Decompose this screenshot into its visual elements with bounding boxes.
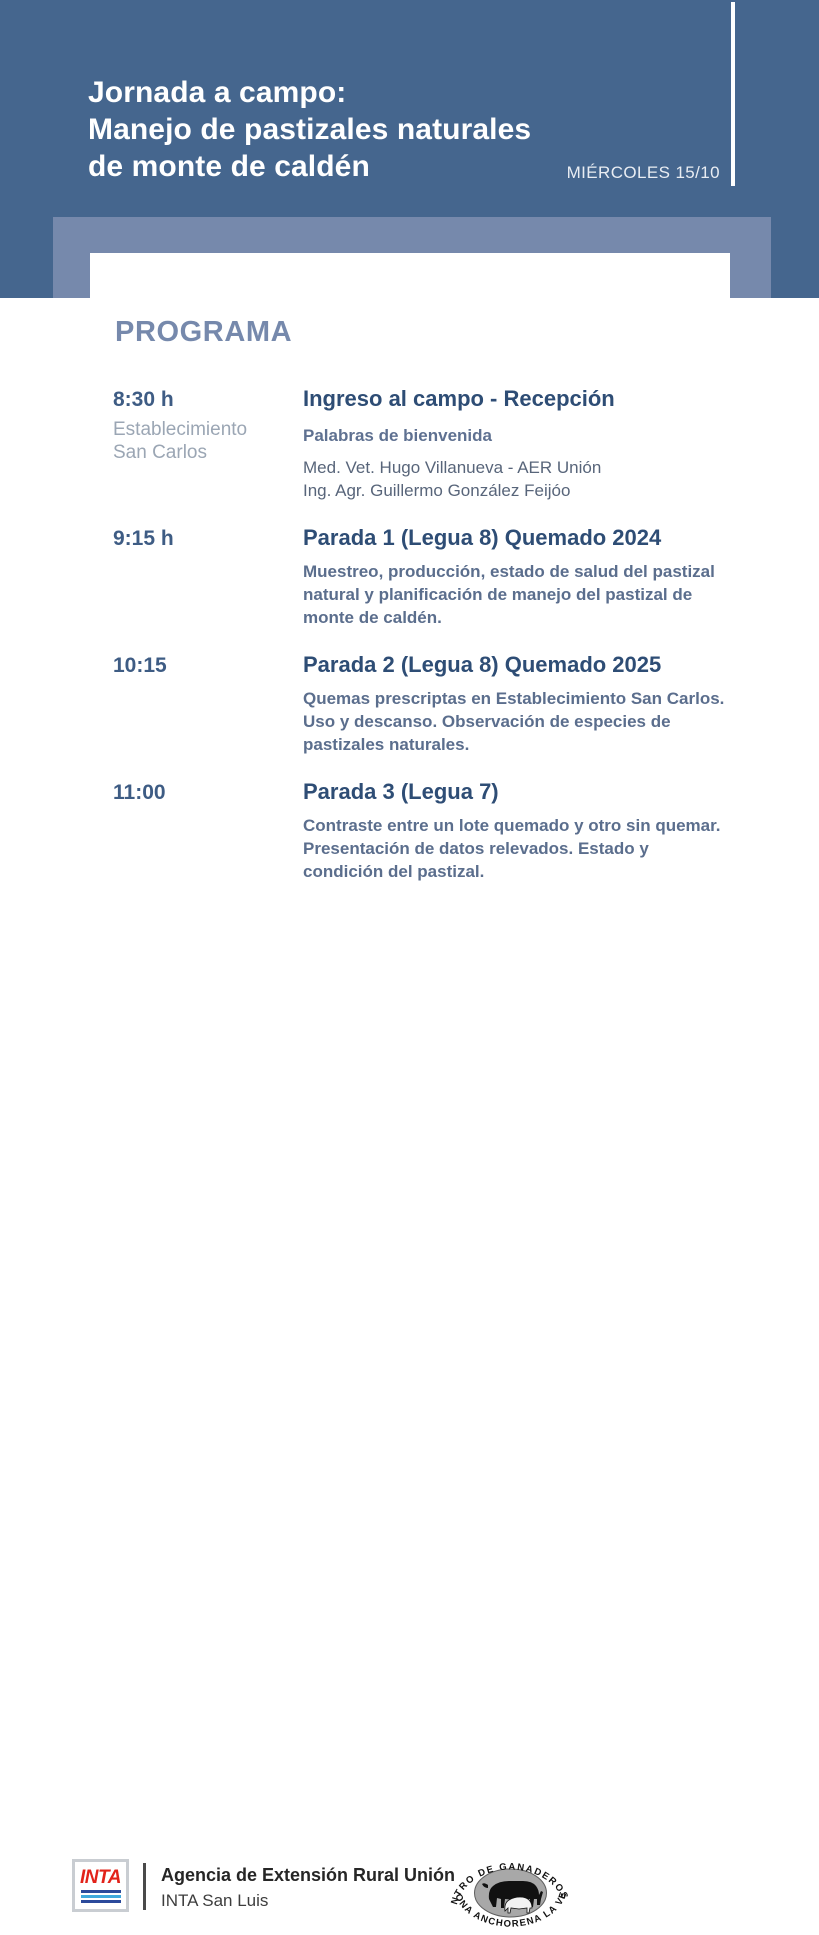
inta-logo-inner: INTA	[75, 1862, 126, 1909]
schedule-entry-heading: Parada 3 (Legua 7)	[303, 778, 773, 805]
schedule-entry-time-column: 10:15	[113, 651, 303, 679]
schedule-entry-time: 8:30 h	[113, 387, 303, 413]
schedule-entry-time-column: 9:15 h	[113, 524, 303, 552]
schedule-entry-time-column: 8:30 hEstablecimiento San Carlos	[113, 385, 303, 464]
schedule-entry-heading: Parada 2 (Legua 8) Quemado 2025	[303, 651, 773, 678]
schedule-entry: 8:30 hEstablecimiento San CarlosIngreso …	[113, 385, 773, 502]
inta-stripe-bottom-icon	[81, 1900, 121, 1903]
programa-heading: PROGRAMA	[115, 316, 292, 349]
title-line-1: Jornada a campo:	[88, 74, 688, 111]
schedule-entry: 11:00Parada 3 (Legua 7)Contraste entre u…	[113, 778, 773, 883]
schedule-entry-heading: Ingreso al campo - Recepción	[303, 385, 773, 412]
schedule-entry-time: 10:15	[113, 653, 303, 679]
centro-ganaderos-logo: CENTRO DE GANADEROS DE ARIZONA ANCHORENA…	[449, 1851, 572, 1935]
footer-agency-region: INTA San Luis	[161, 1889, 455, 1913]
schedule-entry: 10:15Parada 2 (Legua 8) Quemado 2025Quem…	[113, 651, 773, 756]
footer-agency-block: Agencia de Extensión Rural Unión INTA Sa…	[161, 1863, 455, 1913]
schedule-entry-content: Ingreso al campo - RecepciónPalabras de …	[303, 385, 773, 502]
inta-logo: INTA	[72, 1859, 129, 1912]
event-date-label: MIÉRCOLES 15/10	[567, 163, 720, 183]
header-vertical-rule	[731, 2, 735, 186]
schedule-entry-body: Contraste entre un lote quemado y otro s…	[303, 814, 773, 883]
schedule-entry-subheading: Palabras de bienvenida	[303, 425, 773, 447]
title-line-2: Manejo de pastizales naturales	[88, 111, 688, 148]
schedule-entry-content: Parada 2 (Legua 8) Quemado 2025Quemas pr…	[303, 651, 773, 756]
footer: INTA Agencia de Extensión Rural Unión IN…	[0, 925, 819, 1015]
inta-stripe-top-icon	[81, 1890, 121, 1893]
inta-stripe-middle-icon	[81, 1895, 121, 1898]
footer-divider	[143, 1863, 146, 1910]
schedule-entry-body: Quemas prescriptas en Establecimiento Sa…	[303, 687, 773, 756]
inta-wordmark-text: INTA	[80, 1868, 121, 1888]
schedule-entry-place: Establecimiento San Carlos	[113, 418, 303, 464]
schedule-entry-body: Muestreo, producción, estado de salud de…	[303, 560, 773, 629]
schedule-entry-time: 9:15 h	[113, 526, 303, 552]
schedule-entry-content: Parada 1 (Legua 8) Quemado 2024Muestreo,…	[303, 524, 773, 629]
schedule-entry-time-column: 11:00	[113, 778, 303, 806]
schedule-entry-content: Parada 3 (Legua 7)Contraste entre un lot…	[303, 778, 773, 883]
header-white-notch	[90, 253, 730, 298]
schedule-list: 8:30 hEstablecimiento San CarlosIngreso …	[113, 385, 773, 905]
footer-agency-name: Agencia de Extensión Rural Unión	[161, 1863, 455, 1887]
schedule-entry: 9:15 hParada 1 (Legua 8) Quemado 2024Mue…	[113, 524, 773, 629]
schedule-entry-heading: Parada 1 (Legua 8) Quemado 2024	[303, 524, 773, 551]
schedule-entry-body: Med. Vet. Hugo Villanueva - AER Unión In…	[303, 456, 773, 502]
schedule-entry-time: 11:00	[113, 780, 303, 806]
